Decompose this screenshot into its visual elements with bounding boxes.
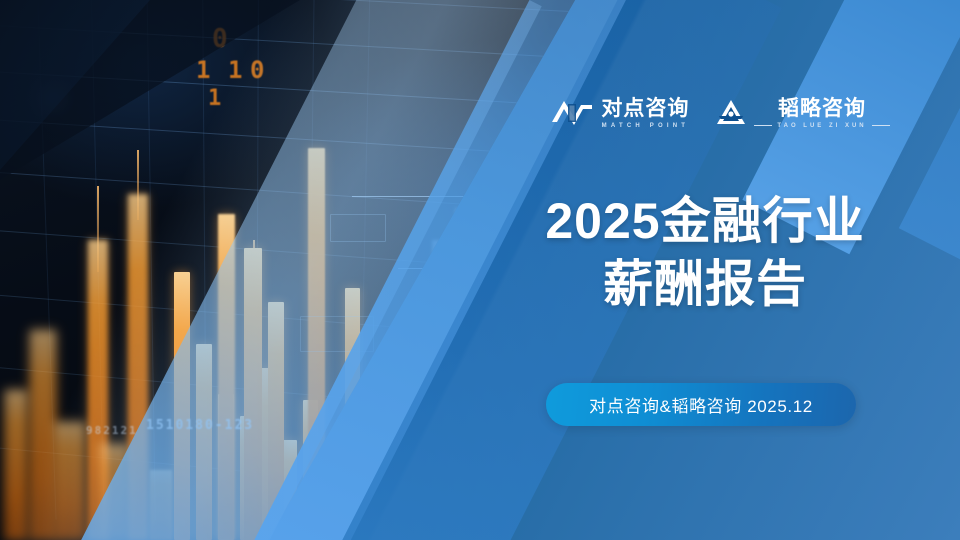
page-title-line-1: 2025金融行业 bbox=[455, 190, 955, 253]
match-point-name-en: MATCH POINT bbox=[602, 123, 689, 129]
page-title: 2025金融行业 薪酬报告 bbox=[455, 190, 955, 316]
logo-match-point[interactable]: 对点咨询 MATCH POINT bbox=[550, 98, 689, 129]
match-point-monogram-icon bbox=[550, 98, 594, 128]
match-point-name-cn: 对点咨询 bbox=[601, 98, 689, 119]
taolue-name-cn: 韬略咨询 bbox=[778, 98, 866, 119]
taolue-wordmark: 韬略咨询 TAO LUE ZI XUN bbox=[754, 98, 889, 129]
byline-label: 对点咨询&韬略咨询 2025.12 bbox=[589, 392, 813, 417]
logo-row: 对点咨询 MATCH POINT 韬略咨询 TAO LUE ZI XUN bbox=[575, 88, 865, 138]
taolue-monogram-icon bbox=[715, 98, 747, 128]
slide-canvas: 0 1 1 0 1 1510180-123 982121 bbox=[0, 0, 960, 540]
byline-pill[interactable]: 对点咨询&韬略咨询 2025.12 bbox=[546, 383, 856, 426]
slide-content: 对点咨询 MATCH POINT 韬略咨询 TAO LUE ZI XUN 202… bbox=[0, 0, 960, 540]
logo-taolue[interactable]: 韬略咨询 TAO LUE ZI XUN bbox=[715, 98, 889, 129]
match-point-wordmark: 对点咨询 MATCH POINT bbox=[601, 98, 689, 129]
page-title-line-2: 薪酬报告 bbox=[455, 253, 955, 316]
taolue-name-en: TAO LUE ZI XUN bbox=[754, 123, 889, 129]
